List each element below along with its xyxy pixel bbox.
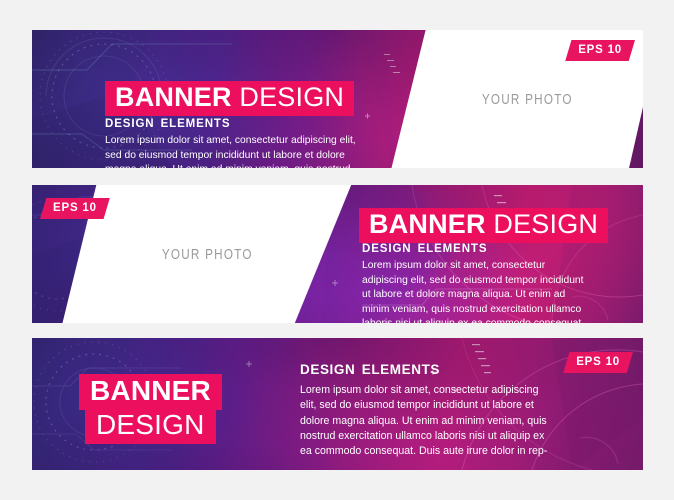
banner-1[interactable]: YOUR PHOTO EPS 10 BANNER DESIGN DESIGN E… [32,30,643,168]
banner-2-title: BANNER DESIGN [359,208,608,243]
banner-3-body: Lorem ipsum dolor sit amet, consectetur … [300,383,550,460]
banner-3-title-bold: BANNER [90,375,211,406]
banner-3[interactable]: EPS 10 BANNER DESIGN DESIGN ELEMENTS Lor… [32,338,643,470]
banner-2-text-block: DESIGN ELEMENTS Lorem ipsum dolor sit am… [362,243,588,323]
banner-1-title-light: DESIGN [232,82,344,112]
banner-3-title-light-block: DESIGN [85,408,216,444]
banner-template-canvas: YOUR PHOTO EPS 10 BANNER DESIGN DESIGN E… [0,0,674,500]
banner-2-subhead: DESIGN ELEMENTS [362,243,588,255]
banner-3-title-bold-block: BANNER [79,374,222,410]
eps-badge-1: EPS 10 [565,40,635,61]
banner-3-title-light: DESIGN [96,409,205,440]
banner-1-title: BANNER DESIGN [105,81,354,116]
banner-3-subhead: DESIGN ELEMENTS [300,362,550,377]
photo-placeholder-label: YOUR PHOTO [482,91,573,108]
banner-2[interactable]: YOUR PHOTO EPS 10 BANNER DESIGN DESIGN E… [32,185,643,323]
banner-1-subhead: DESIGN ELEMENTS [105,118,357,130]
banner-3-text-block: DESIGN ELEMENTS Lorem ipsum dolor sit am… [300,362,550,460]
eps-badge-2: EPS 10 [40,198,110,219]
banner-2-title-light: DESIGN [486,209,598,239]
banner-1-body: Lorem ipsum dolor sit amet, consectetur … [105,134,357,168]
eps-badge-3: EPS 10 [563,352,633,373]
banner-2-body: Lorem ipsum dolor sit amet, consectetur … [362,259,588,323]
banner-1-title-bold: BANNER [115,82,232,112]
banner-1-text-block: DESIGN ELEMENTS Lorem ipsum dolor sit am… [105,118,357,168]
photo-placeholder-label: YOUR PHOTO [162,246,253,263]
banner-2-title-bold: BANNER [369,209,486,239]
